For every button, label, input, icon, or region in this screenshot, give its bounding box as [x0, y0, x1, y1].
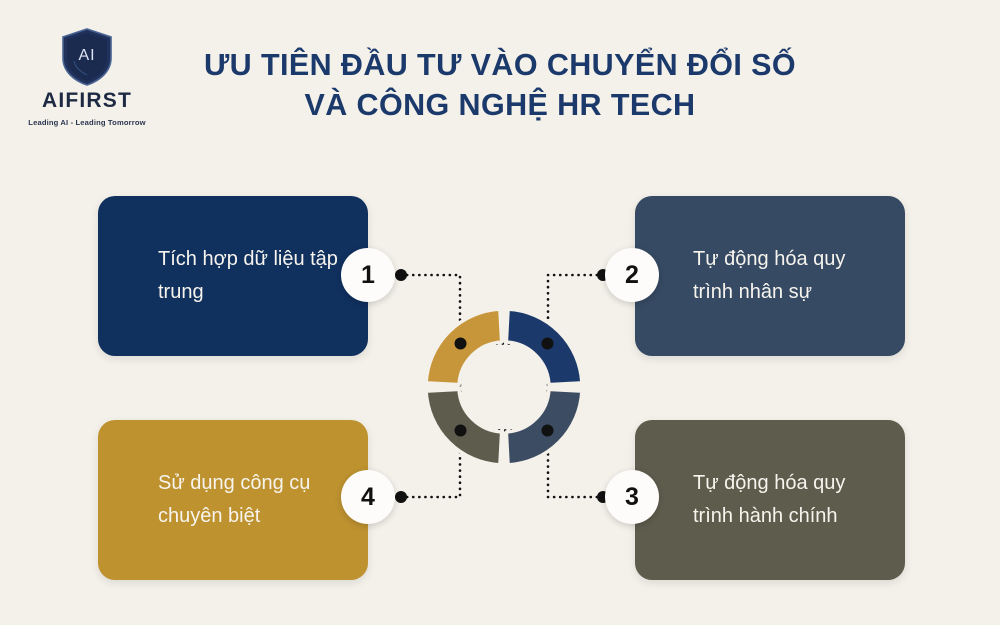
infographic-canvas: AI AIFIRST Leading AI - Leading Tomorrow… — [0, 0, 1000, 625]
connector-lines — [401, 275, 603, 497]
donut-chart — [426, 309, 582, 465]
badge-1[interactable]: 1 — [341, 248, 395, 302]
connector-dots — [395, 269, 609, 503]
badge-2[interactable]: 2 — [605, 248, 659, 302]
connector-dot-1-ring — [541, 338, 553, 350]
connector-dot-3-ring — [455, 424, 467, 436]
badge-3[interactable]: 3 — [605, 470, 659, 524]
connector-dot-1-badge — [395, 269, 407, 281]
connector-dot-2-ring — [541, 424, 553, 436]
badge-4[interactable]: 4 — [341, 470, 395, 524]
connector-dot-4-ring — [455, 338, 467, 350]
donut-chart-and-connectors — [0, 0, 1000, 625]
connector-dot-4-badge — [395, 491, 407, 503]
